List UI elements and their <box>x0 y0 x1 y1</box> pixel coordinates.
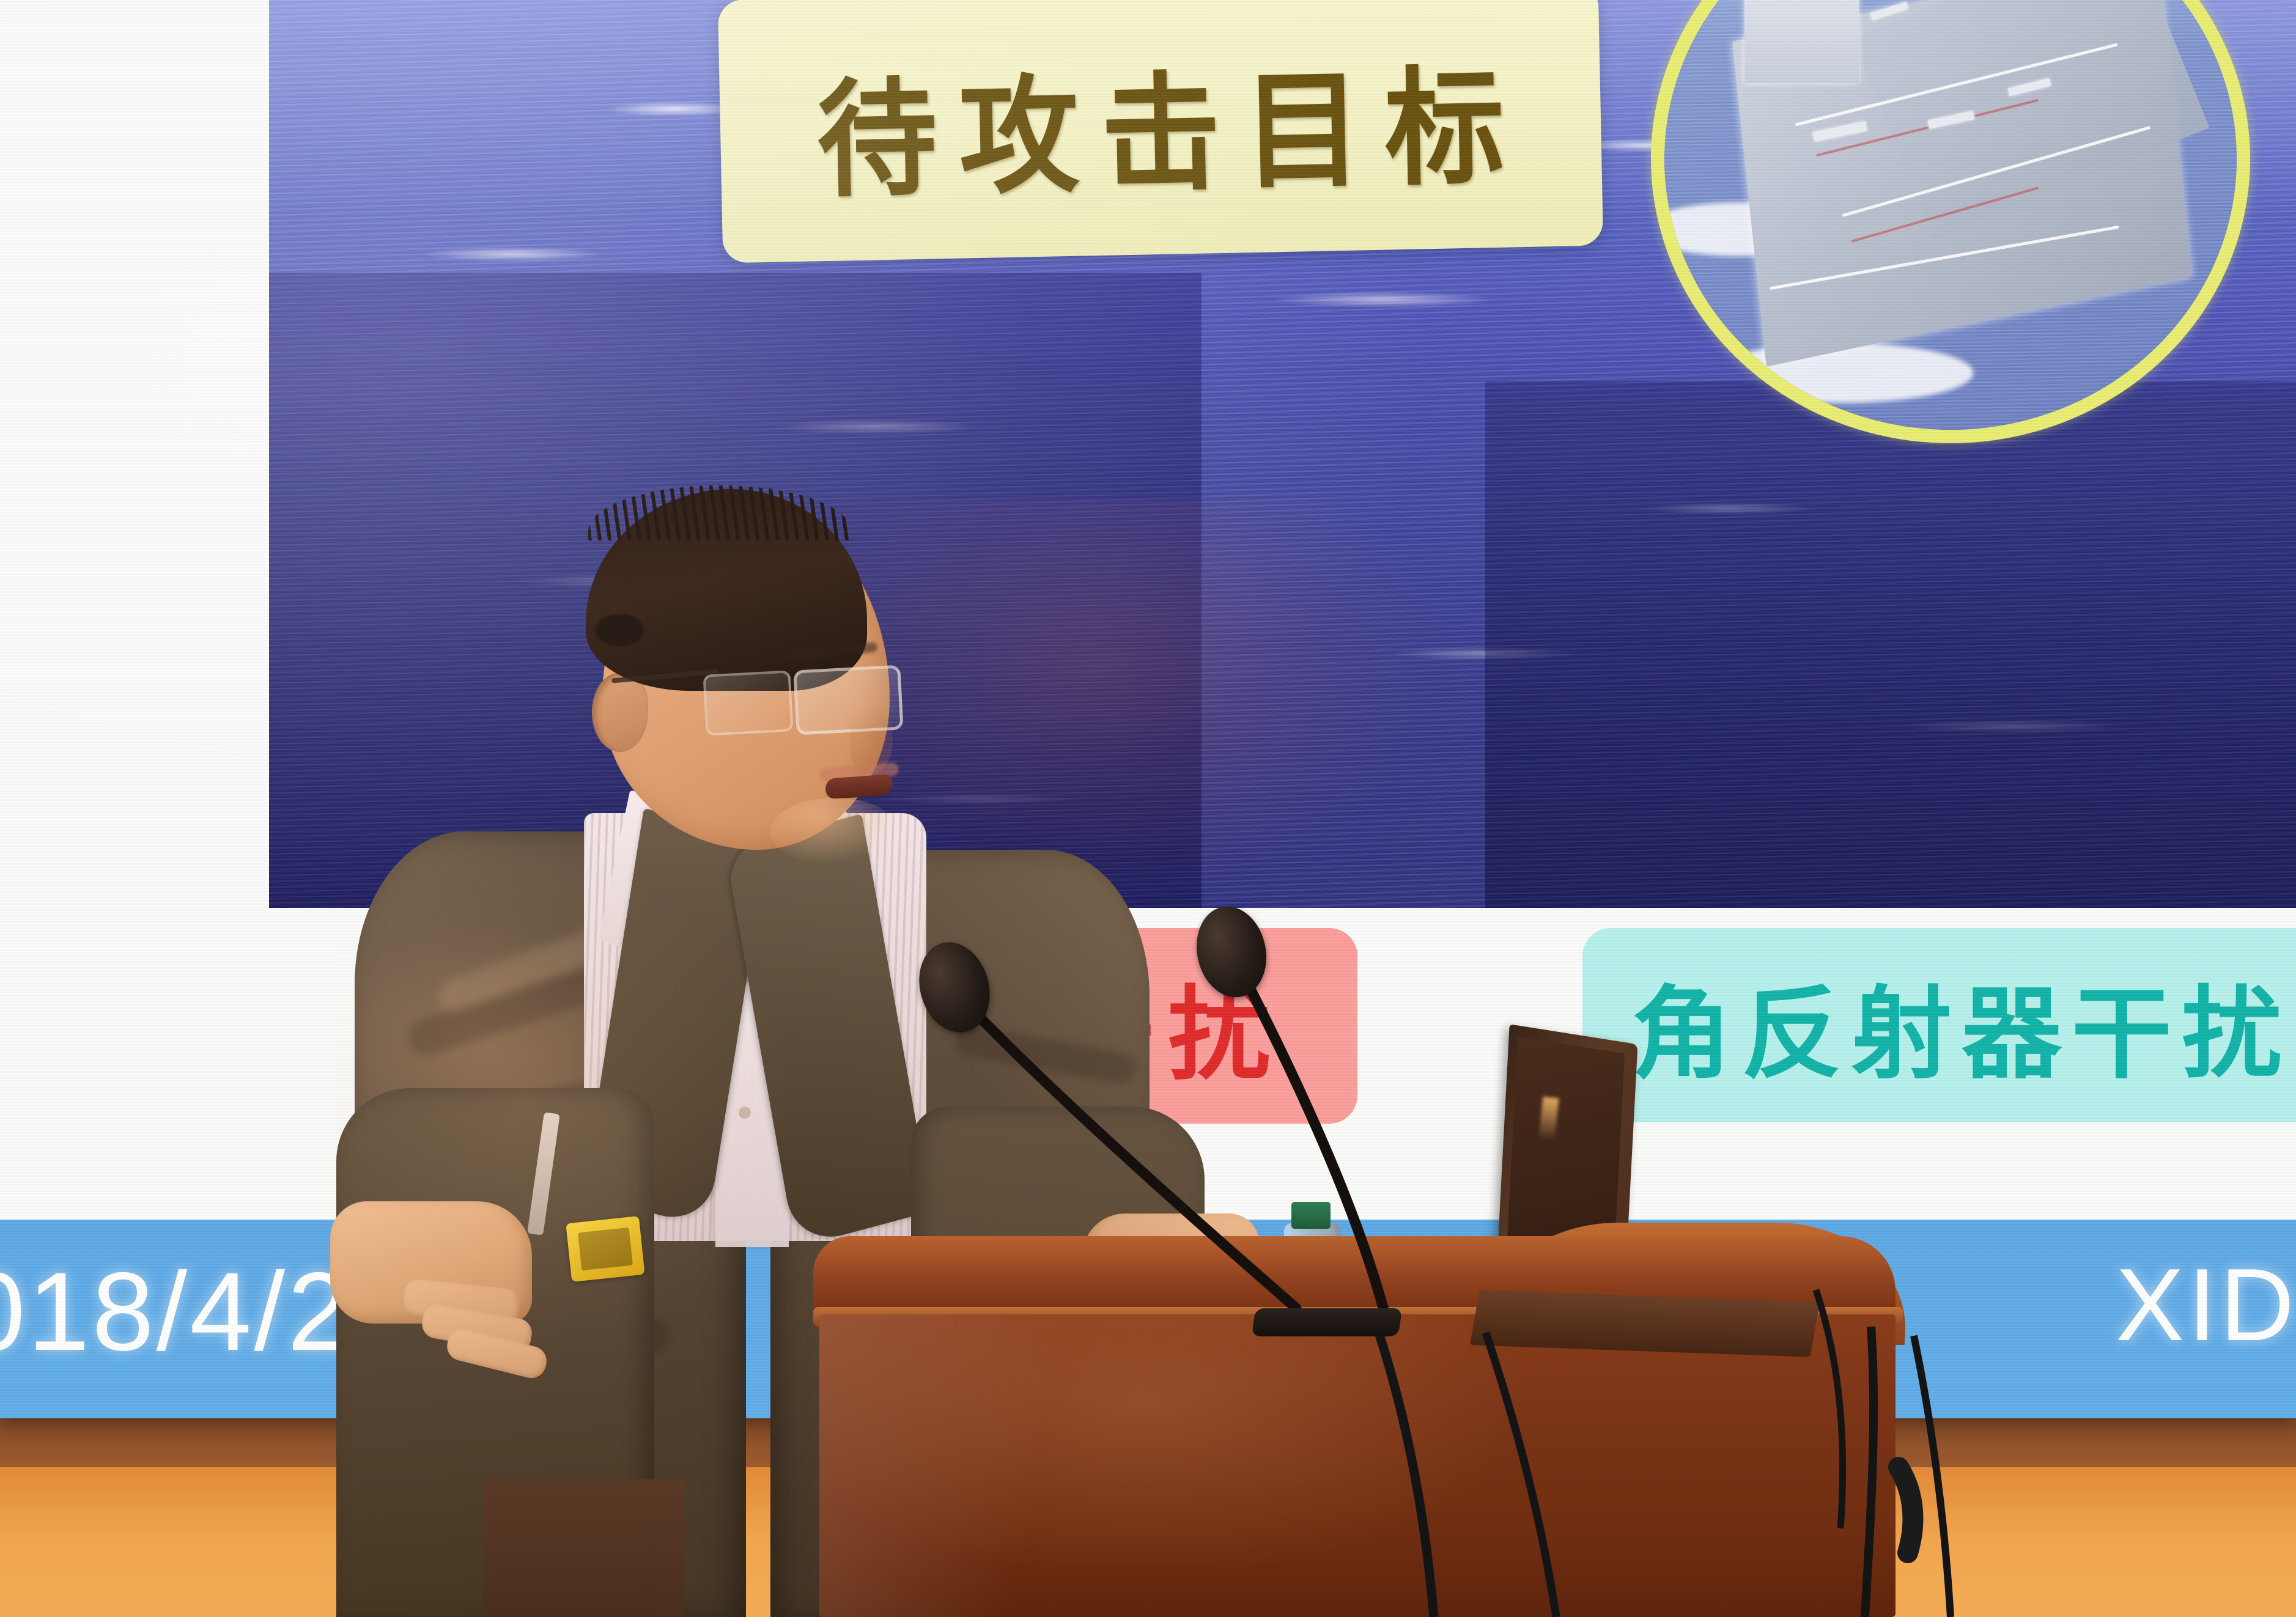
tag-box-cyan: 角反射器干扰 <box>1582 928 2296 1122</box>
ear <box>592 672 648 752</box>
aircraft-carrier-inset <box>1651 0 2250 443</box>
chin-highlight <box>770 798 899 865</box>
carrier-photo <box>1664 0 2237 430</box>
hair-texture <box>588 485 851 540</box>
water-bottle-cap <box>1291 1202 1331 1229</box>
lectern-side-post <box>483 1479 685 1617</box>
slide-footer-org: XID <box>2116 1246 2296 1364</box>
glasses-lens-left <box>703 670 793 735</box>
mouth <box>825 774 893 800</box>
tag-cyan-label: 角反射器干扰 <box>1631 953 2292 1098</box>
name-badge-inner <box>578 1228 633 1270</box>
ocean-shadow-right <box>1485 381 2296 908</box>
shirt-button <box>739 1107 751 1119</box>
photo-scene: 待攻击目标 干扰 角反射器干扰 018/4/25 XID <box>0 0 2296 1617</box>
lectern-body <box>819 1314 1895 1617</box>
slide-title-banner: 待攻击目标 <box>718 0 1603 263</box>
microphone-base <box>1252 1308 1402 1336</box>
slide-title-text: 待攻击目标 <box>793 24 1528 222</box>
carrier-island-superstructure <box>1744 0 1859 83</box>
